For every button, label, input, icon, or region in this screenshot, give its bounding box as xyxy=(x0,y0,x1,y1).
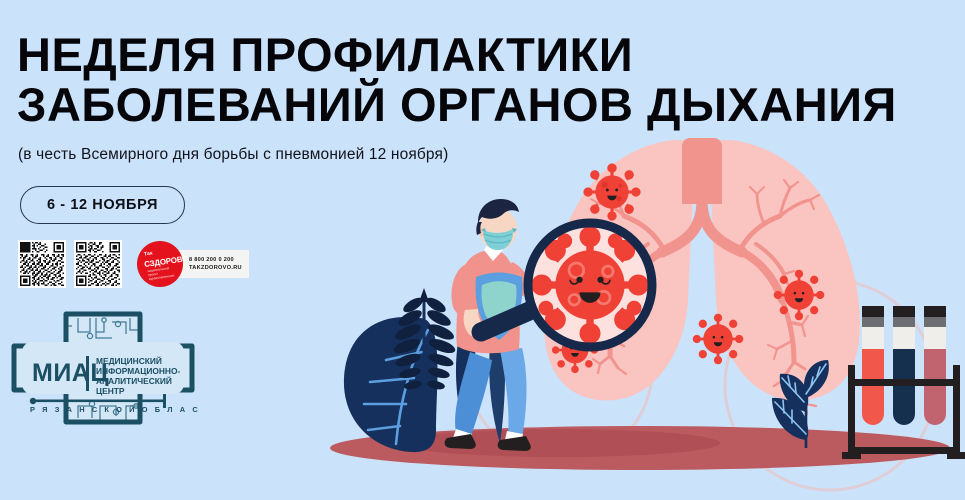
virus-particle-upper-left xyxy=(583,163,640,220)
page-title: НЕДЕЛЯ ПРОФИЛАКТИКИ ЗАБОЛЕВАНИЙ ОРГАНОВ … xyxy=(17,30,957,130)
doctor-character xyxy=(445,199,652,451)
miac-logo[interactable]: МИАЦ МЕДИЦИНСКИЙ ИНФОРМАЦИОННО- АНАЛИТИЧ… xyxy=(8,308,198,428)
takzdorovo-circle: Так СЗДОРОВО национальный проект здравоо… xyxy=(137,241,183,287)
miac-line1: МЕДИЦИНСКИЙ xyxy=(96,355,162,366)
miac-line2: ИНФОРМАЦИОННО- xyxy=(96,366,180,376)
poster-banner: НЕДЕЛЯ ПРОФИЛАКТИКИ ЗАБОЛЕВАНИЙ ОРГАНОВ … xyxy=(0,0,965,500)
takzdorovo-phone: 8 800 200 0 200 xyxy=(189,256,242,264)
subtitle: (в честь Всемирного дня борьбы с пневмон… xyxy=(18,146,448,164)
date-badge: 6 - 12 НОЯБРЯ xyxy=(20,186,185,224)
qr-code-right[interactable] xyxy=(74,240,122,288)
title-line-1: НЕДЕЛЯ ПРОФИЛАКТИКИ xyxy=(17,30,957,80)
takzdorovo-logo-line3: национальный проект здравоохранение xyxy=(147,265,178,281)
takzdorovo-logo-line1: Так xyxy=(144,250,154,257)
virus-particle-center-bottom xyxy=(693,314,744,365)
virus-particle-right xyxy=(774,270,825,321)
takzdorovo-logo[interactable]: Так СЗДОРОВО национальный проект здравоо… xyxy=(137,241,249,287)
test-tube-1 xyxy=(862,306,884,425)
takzdorovo-site: TAKZDOROVO.RU xyxy=(189,264,242,272)
date-badge-label: 6 - 12 НОЯБРЯ xyxy=(47,197,158,213)
takzdorovo-contact-panel: 8 800 200 0 200 TAKZDOROVO.RU xyxy=(177,250,249,278)
miac-line3: АНАЛИТИЧЕСКИЙ xyxy=(96,375,172,386)
title-line-2: ЗАБОЛЕВАНИЙ ОРГАНОВ ДЫХАНИЯ xyxy=(17,80,957,130)
miac-region: Р Я З А Н С К О Й О Б Л А С Т И xyxy=(30,405,198,414)
qr-and-logos-row: Так СЗДОРОВО национальный проект здравоо… xyxy=(18,240,249,288)
miac-line4: ЦЕНТР xyxy=(96,386,125,396)
test-tube-2 xyxy=(893,306,915,425)
test-tube-3 xyxy=(924,306,946,425)
qr-code-left[interactable] xyxy=(18,240,66,288)
